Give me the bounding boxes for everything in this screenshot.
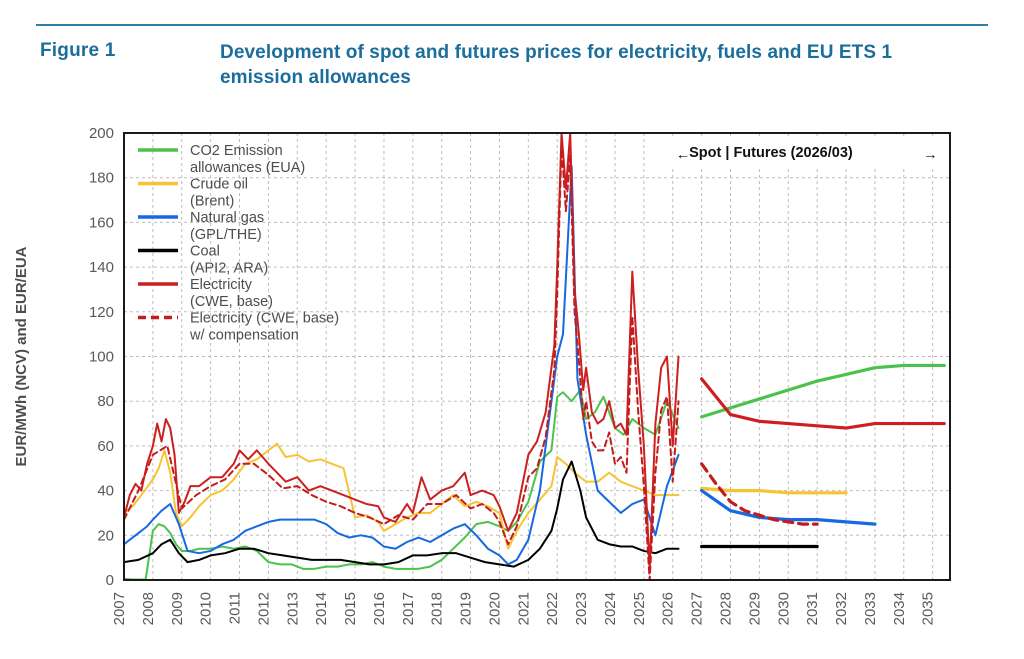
series-oil (124, 444, 679, 549)
x-tick-label: 2029 (746, 592, 763, 625)
x-tick-label: 2010 (198, 592, 215, 625)
y-tick-label: 80 (97, 393, 114, 410)
y-tick-label: 120 (89, 304, 114, 321)
legend-label: CO2 Emission (190, 143, 283, 159)
x-tick-label: 2018 (429, 592, 446, 625)
figure-header: Figure 1Development of spot and futures … (40, 40, 990, 90)
legend-label: Electricity (190, 277, 253, 293)
x-tick-label: 2012 (255, 592, 272, 625)
legend-label: (Brent) (190, 194, 234, 210)
x-tick-label: 2009 (169, 592, 186, 625)
chart-legend: CO2 Emissionallowances (EUA)Crude oil(Br… (138, 143, 339, 344)
x-tick-label: 2030 (775, 592, 792, 625)
legend-label: (API2, ARA) (190, 261, 268, 277)
x-tick-label: 2015 (342, 592, 359, 625)
gridlines (124, 133, 950, 580)
legend-label: w/ compensation (189, 328, 299, 344)
header-divider (36, 24, 988, 26)
x-tick-label: 2013 (284, 592, 301, 625)
chart-container: 020406080100120140160180200EUR/MWh (NCV)… (0, 112, 1024, 659)
x-tick-label: 2025 (631, 592, 648, 625)
x-tick-label: 2026 (660, 592, 677, 625)
price-development-chart: 020406080100120140160180200EUR/MWh (NCV)… (0, 112, 1024, 659)
legend-label: Natural gas (190, 210, 264, 226)
y-tick-label: 20 (97, 527, 114, 544)
x-tick-label: 2034 (891, 592, 908, 625)
x-tick-label: 2020 (486, 592, 503, 625)
x-tick-label: 2031 (804, 592, 821, 625)
x-tick-label: 2035 (920, 592, 937, 625)
figure-number: Figure 1 (40, 40, 220, 62)
x-tick-label: 2014 (313, 592, 330, 625)
x-tick-label: 2019 (458, 592, 475, 625)
y-tick-label: 180 (89, 170, 114, 187)
y-axis-label: EUR/MWh (NCV) and EUR/EUA (13, 246, 30, 466)
legend-label: Coal (190, 244, 220, 260)
legend-label: Electricity (CWE, base) (190, 311, 339, 327)
x-tick-label: 2016 (371, 592, 388, 625)
tick-labels: 020406080100120140160180200EUR/MWh (NCV)… (13, 125, 937, 625)
x-tick-label: 2023 (573, 592, 590, 625)
series-co2_fut (702, 365, 945, 416)
x-tick-label: 2027 (689, 592, 706, 625)
x-tick-label: 2007 (111, 592, 128, 625)
x-tick-label: 2033 (862, 592, 879, 625)
spot-futures-annotation: ←Spot | Futures (2026/03)→ (666, 136, 947, 166)
x-tick-label: 2028 (718, 592, 735, 625)
right-arrow-icon: → (923, 147, 938, 163)
x-tick-label: 2008 (140, 592, 157, 625)
series-power_fut (702, 379, 945, 428)
legend-label: Crude oil (190, 177, 248, 193)
y-tick-label: 40 (97, 483, 114, 500)
x-tick-label: 2017 (400, 592, 417, 625)
legend-label: (CWE, base) (190, 294, 273, 310)
y-tick-label: 100 (89, 349, 114, 366)
x-tick-label: 2032 (833, 592, 850, 625)
legend-label: allowances (EUA) (190, 160, 305, 176)
x-tick-label: 2022 (544, 592, 561, 625)
y-tick-label: 200 (89, 125, 114, 142)
y-tick-label: 60 (97, 438, 114, 455)
legend-label: (GPL/THE) (190, 227, 262, 243)
y-tick-label: 160 (89, 214, 114, 231)
annotation-label: Spot | Futures (2026/03) (689, 145, 853, 161)
x-tick-label: 2024 (602, 592, 619, 625)
figure-title: Development of spot and futures prices f… (220, 40, 960, 90)
y-tick-label: 140 (89, 259, 114, 276)
x-tick-label: 2011 (227, 592, 244, 624)
y-tick-label: 0 (106, 572, 114, 589)
x-tick-label: 2021 (515, 592, 532, 625)
